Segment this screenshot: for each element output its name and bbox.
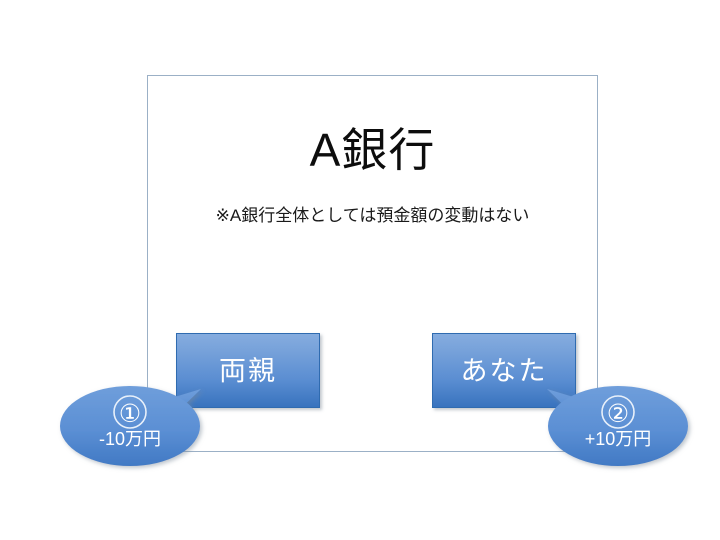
callout-bubble-you[interactable]: ② +10万円 [528, 378, 688, 480]
entity-box-parents-label: 両親 [219, 356, 277, 386]
slide-canvas: A銀行 ※A銀行全体としては預金額の変動はない 両親 あなた [0, 0, 720, 540]
callout-bubble-parents[interactable]: ① -10万円 [60, 378, 220, 480]
bank-note-text: ※A銀行全体としては預金額の変動はない [147, 204, 598, 228]
callout-bubble-parents-index: ① [60, 400, 200, 428]
page-title: A銀行 [147, 122, 598, 178]
callout-bubble-you-index: ② [548, 400, 688, 428]
callout-bubble-parents-amount: -10万円 [60, 428, 200, 450]
callout-bubble-you-amount: +10万円 [548, 428, 688, 450]
